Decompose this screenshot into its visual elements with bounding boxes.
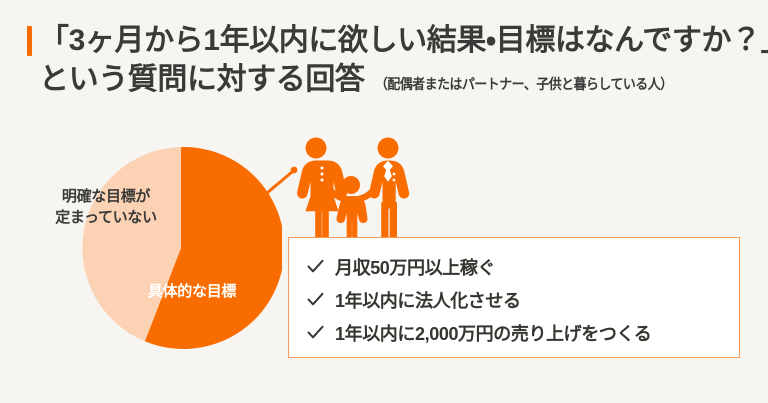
accent-bar-icon [27,26,32,56]
family-pictogram-icon [285,136,413,240]
page-title: 「3ヶ月から1年以内に欲しい結果・目標はなんですか？」 [39,25,768,57]
pie-label-no-clear-goal-line2: 定まっていない [55,209,157,226]
page-title-second-line: という質問に対する回答 [39,64,365,96]
header: 「3ヶ月から1年以内に欲しい結果・目標はなんですか？」 という質問に対する回答 … [27,22,747,96]
check-icon [307,324,324,341]
page-subtitle: （配偶者またはパートナー、子供と暮らしている人） [375,74,673,94]
pie-label-no-clear-goal: 明確な目標が 定まっていない [31,187,181,228]
title-line-1: 「3ヶ月から1年以内に欲しい結果・目標はなんですか？」 [27,22,747,60]
mother-figure [297,138,347,241]
infographic-canvas: 「3ヶ月から1年以内に欲しい結果・目標はなんですか？」 という質問に対する回答 … [0,0,768,403]
list-item-label: 1年以内に法人化させる [335,287,521,313]
check-icon [307,291,324,308]
list-item: 1年以内に2,000万円の売り上げをつくる [307,317,739,348]
list-item: 1年以内に法人化させる [307,284,739,315]
pie-label-specific-goal: 具体的な目標 [122,280,262,301]
list-item-label: 月収50万円以上稼ぐ [335,254,495,280]
check-icon [307,258,324,275]
list-item-label: 1年以内に2,000万円の売り上げをつくる [335,320,651,346]
answer-list-box: 月収50万円以上稼ぐ 1年以内に法人化させる 1年以内に2,000万円の売り上げ… [288,237,740,358]
title-line-2: という質問に対する回答 （配偶者またはパートナー、子供と暮らしている人） [39,64,747,96]
pie-label-no-clear-goal-line1: 明確な目標が [62,188,150,205]
list-item: 月収50万円以上稼ぐ [307,251,739,282]
